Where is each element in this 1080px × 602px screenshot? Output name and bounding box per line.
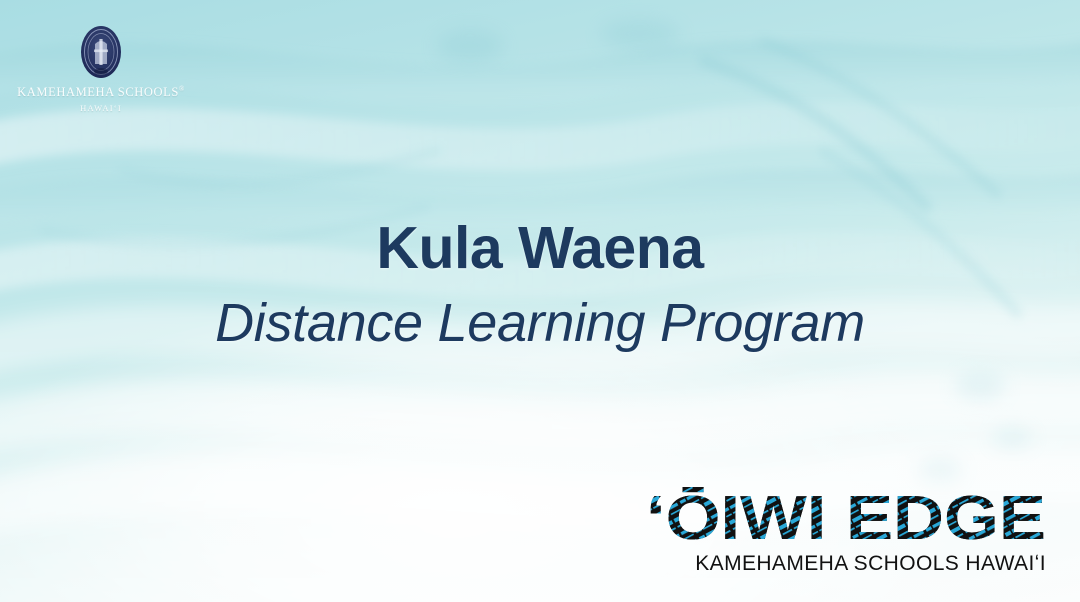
ks-location-text: HAWAIʻI bbox=[16, 103, 186, 113]
slide-title: Kula Waena bbox=[0, 218, 1080, 280]
oiwi-edge-wordmark-icon: ʻŌIWI EDGE ʻŌIWI EDGE bbox=[646, 485, 1046, 551]
oiwi-edge-tagline: KAMEHAMEHA SCHOOLS HAWAIʻI bbox=[646, 553, 1046, 574]
ks-name-text: KAMEHAMEHA SCHOOLS® bbox=[16, 86, 186, 100]
slide-canvas: KAMEHAMEHA SCHOOLS® HAWAIʻI Kula Waena D… bbox=[0, 0, 1080, 602]
kamehameha-schools-seal-icon bbox=[79, 24, 123, 80]
slide-subtitle: Distance Learning Program bbox=[0, 294, 1080, 353]
title-block: Kula Waena Distance Learning Program bbox=[0, 218, 1080, 353]
kamehameha-schools-lockup: KAMEHAMEHA SCHOOLS® HAWAIʻI bbox=[16, 24, 186, 113]
oiwi-edge-logo: ʻŌIWI EDGE ʻŌIWI EDGE KAMEHAMEHA SCHOOLS… bbox=[646, 485, 1046, 574]
